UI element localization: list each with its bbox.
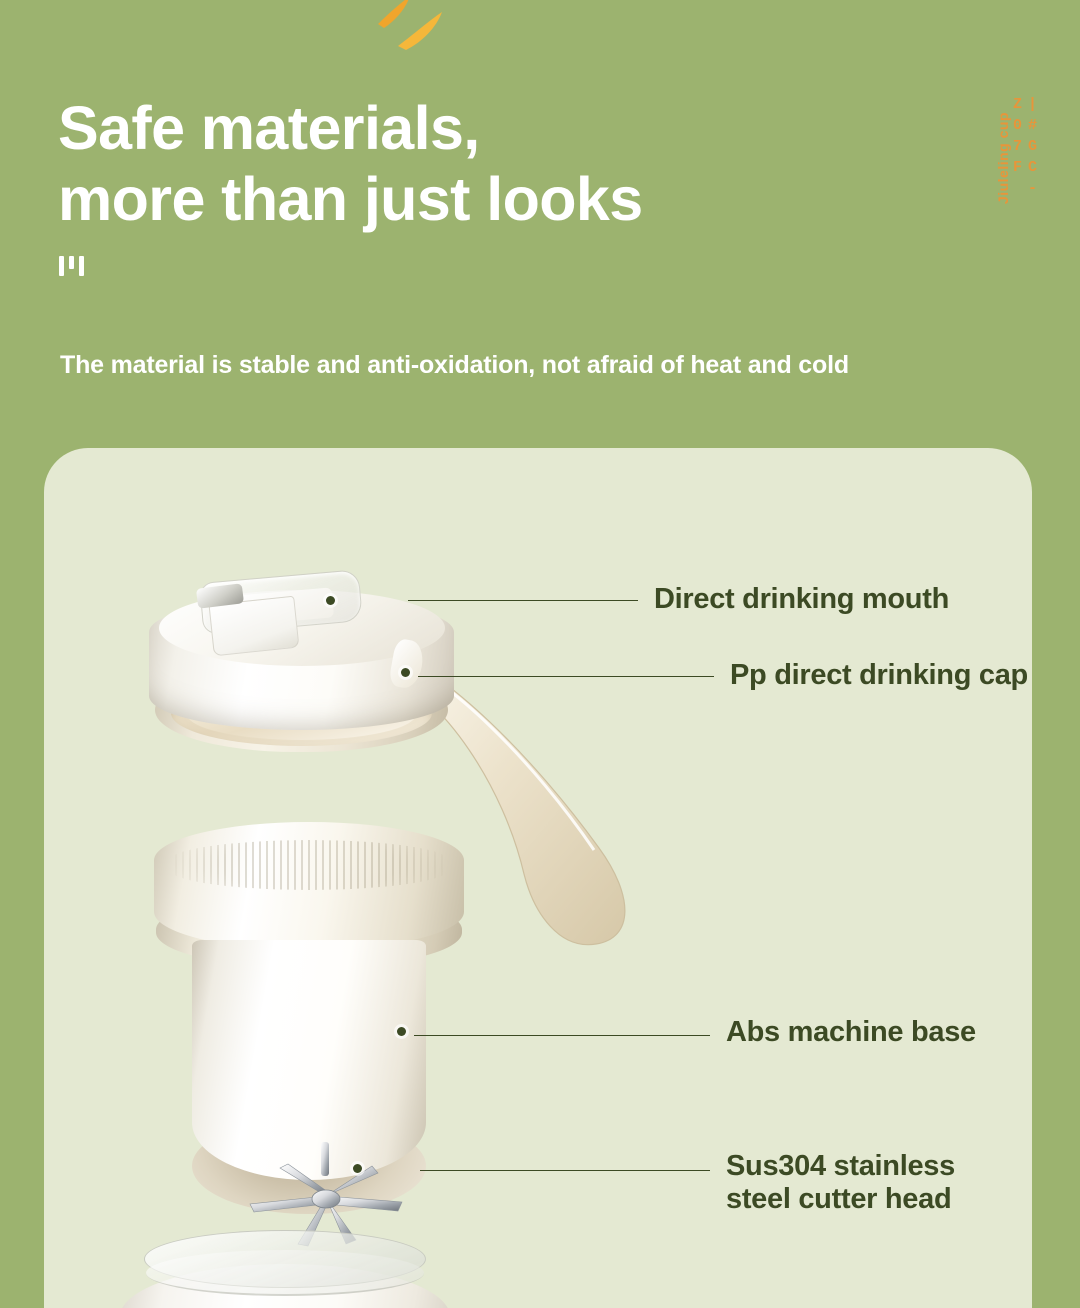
abs-machine-base: [154, 822, 464, 1252]
callout-line-abs-machine-base: [414, 1035, 710, 1036]
lid-body: [149, 598, 454, 730]
quote-mark-decoration: [59, 256, 84, 276]
lid-flip-tab: [209, 596, 300, 657]
cup-rim: [144, 1230, 426, 1288]
side-codes: |#GC-Z07F Jiuleling cup: [960, 96, 1046, 266]
transparent-cup-body: [120, 1230, 450, 1308]
lid-skirt: [155, 668, 448, 752]
subtitle: The material is stable and anti-oxidatio…: [60, 351, 849, 380]
lid-top-face: [159, 590, 445, 666]
quote-bar-2: [69, 256, 74, 269]
page-title: Safe materials, more than just looks: [58, 93, 838, 236]
lid-strap-anchor: [388, 638, 426, 690]
callout-label-sus304-line-1: Sus304 stainless: [726, 1150, 1026, 1183]
base-knurled-collar: [154, 822, 464, 950]
callout-dot-pp-direct-drinking-cap: [401, 668, 410, 677]
sku-code: |#GC-Z07F: [1010, 96, 1040, 266]
quote-bar-1: [59, 256, 64, 276]
quote-bar-3: [79, 256, 84, 276]
callout-line-sus304-cutter-head: [420, 1170, 710, 1171]
callout-dot-direct-drinking-mouth: [326, 596, 335, 605]
callout-label-abs-machine-base: Abs machine base: [726, 1016, 976, 1049]
product-infographic-poster: Safe materials, more than just looks |#G…: [0, 0, 1080, 1308]
sus304-stainless-cutter-head: [236, 1140, 416, 1250]
callout-dot-sus304-cutter-head: [353, 1164, 362, 1173]
base-knurl-ridges: [170, 840, 448, 890]
drinking-spout-opening: [224, 587, 334, 626]
callout-label-sus304-cutter-head: Sus304 stainless steel cutter head: [726, 1150, 1026, 1216]
headline-line-1: Safe materials,: [58, 93, 838, 164]
lid-latch-clip: [196, 583, 244, 608]
drinking-spout: [199, 569, 363, 635]
base-cylinder-body: [192, 940, 426, 1180]
callout-dot-abs-machine-base: [397, 1027, 406, 1036]
callout-line-direct-drinking-mouth: [408, 600, 638, 601]
cup-rim-band: [146, 1250, 424, 1296]
base-collar-lip: [156, 894, 462, 968]
headline-line-2: more than just looks: [58, 164, 838, 235]
base-underside: [192, 1118, 426, 1214]
lid-seal-ring-inner: [187, 688, 416, 740]
callout-label-pp-direct-drinking-cap: Pp direct drinking cap: [730, 659, 1028, 692]
lid-seal-ring-outer: [171, 680, 432, 746]
callout-label-direct-drinking-mouth: Direct drinking mouth: [654, 583, 949, 616]
base-inner-cavity: [194, 926, 424, 982]
cup-body: [120, 1264, 450, 1308]
callout-label-sus304-line-2: steel cutter head: [726, 1183, 1026, 1216]
brand-name: Jiuleling cup: [996, 112, 1010, 204]
callout-line-pp-direct-drinking-cap: [418, 676, 714, 677]
orange-brush-strokes-icon: [372, 0, 462, 56]
